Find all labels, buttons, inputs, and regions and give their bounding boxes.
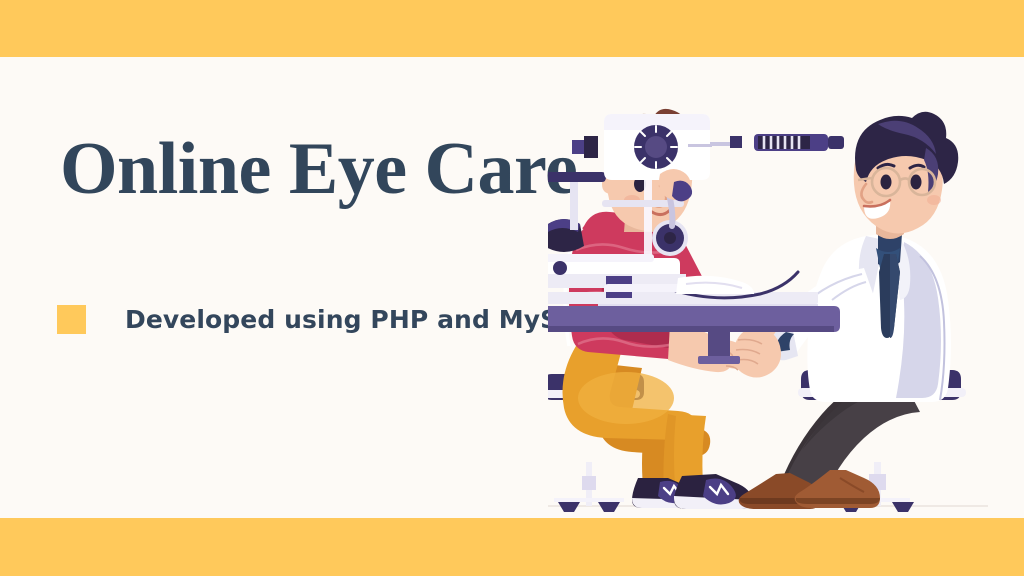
- subtitle-row: Developed using PHP and MySQL: [57, 305, 596, 334]
- top-accent-bar: [0, 0, 1024, 57]
- bottom-accent-bar: [0, 518, 1024, 576]
- page-title: Online Eye Care: [60, 126, 577, 212]
- handheld-retinoscope: [754, 134, 844, 151]
- subtitle-text: Developed using PHP and MySQL: [125, 305, 596, 334]
- optometrist-eye-exam-illustration: [548, 78, 988, 518]
- presentation-slide: Online Eye Care Developed using PHP and …: [0, 0, 1024, 576]
- square-bullet-icon: [57, 305, 86, 334]
